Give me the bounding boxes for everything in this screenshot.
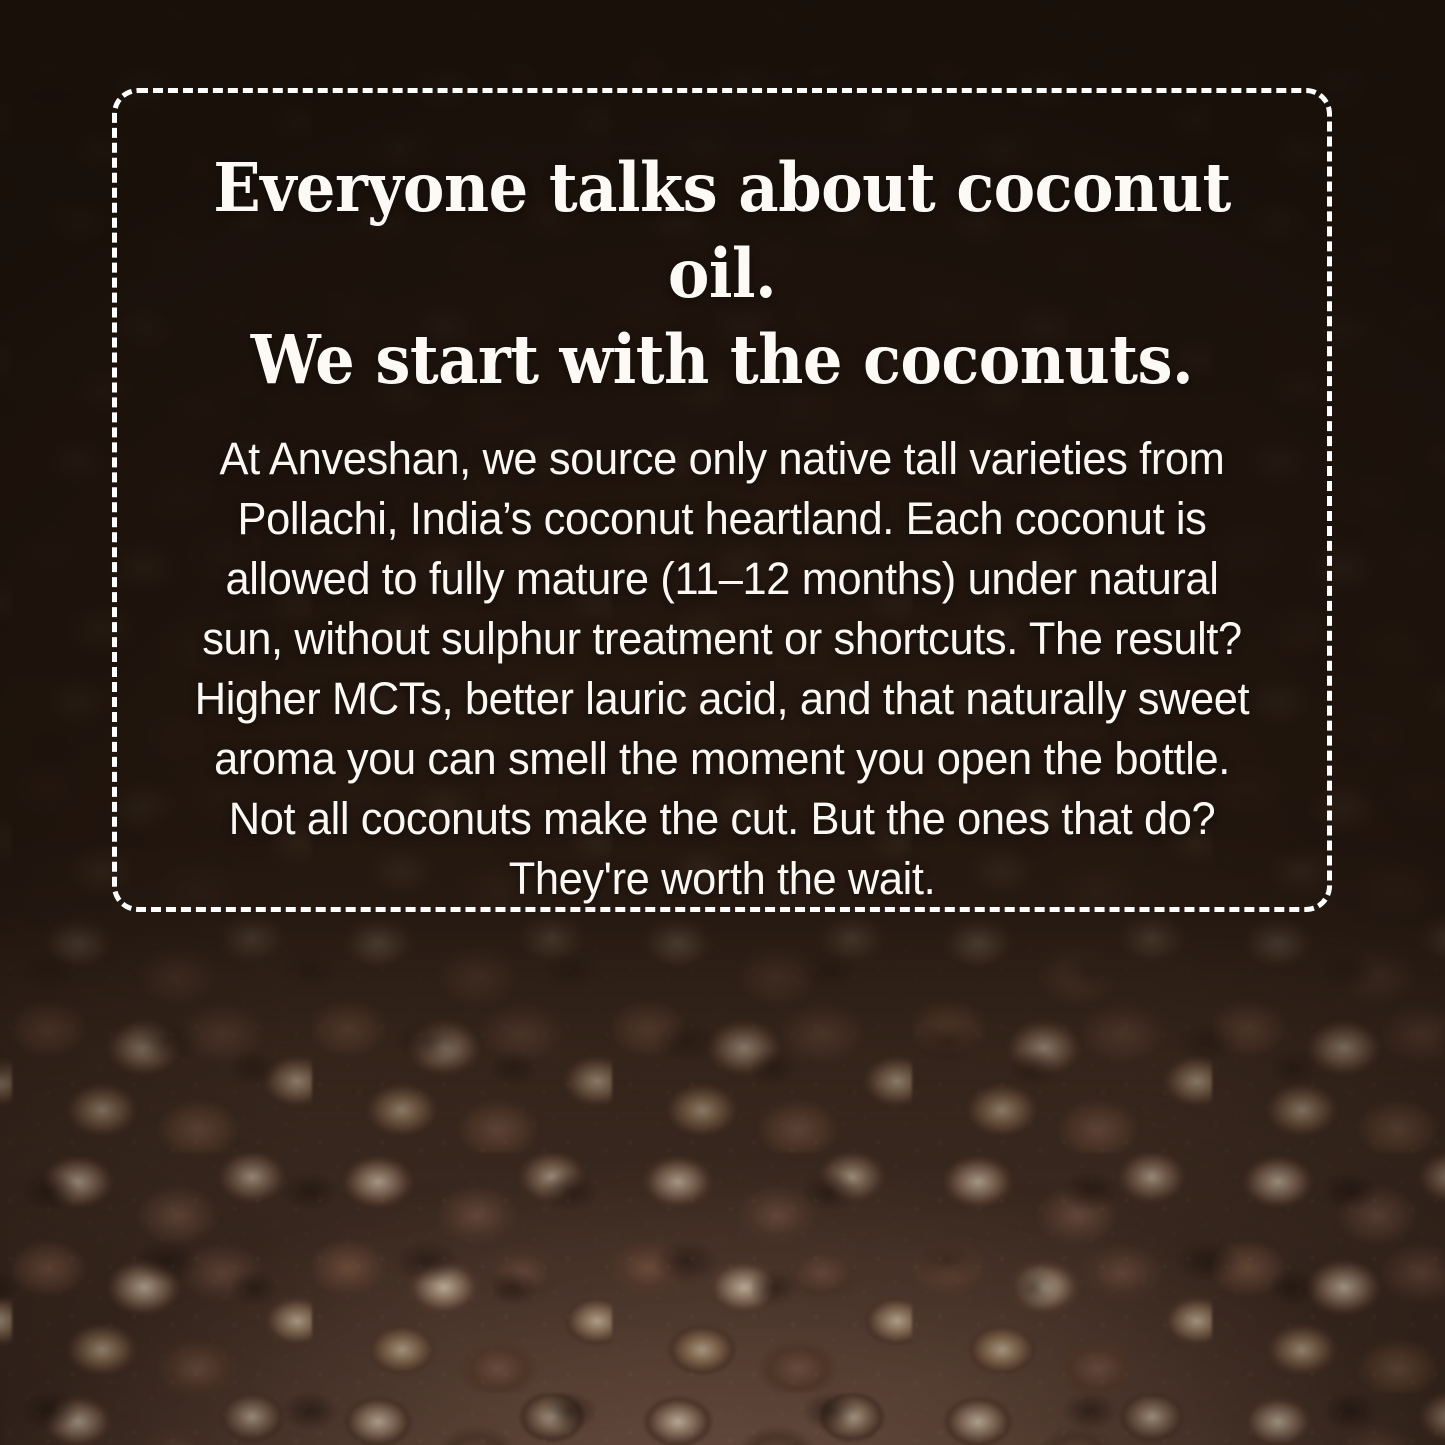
poster-canvas: Everyone talks about coconut oil. We sta… xyxy=(0,0,1445,1445)
headline: Everyone talks about coconut oil. We sta… xyxy=(193,145,1251,403)
dashed-callout-box: Everyone talks about coconut oil. We sta… xyxy=(112,88,1332,912)
body-copy: At Anveshan, we source only native tall … xyxy=(182,429,1263,909)
